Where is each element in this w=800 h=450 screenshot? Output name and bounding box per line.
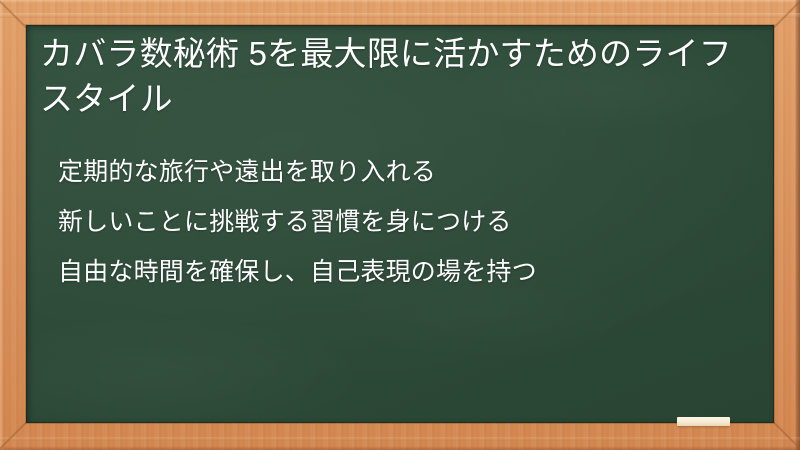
chalkboard-surface: カバラ数秘術 5を最大限に活かすためのライフスタイル 定期的な旅行や遠出を取り入… <box>26 25 774 423</box>
frame-bottom-shadow <box>0 446 800 450</box>
chalk-stick-icon <box>677 417 730 426</box>
board-content: カバラ数秘術 5を最大限に活かすためのライフスタイル 定期的な旅行や遠出を取り入… <box>26 25 774 423</box>
list-item: 新しいことに挑戦する習慣を身につける <box>58 197 748 247</box>
frame-top-highlight <box>0 0 800 3</box>
frame-ledge-grain-band <box>0 437 800 441</box>
bullet-list: 定期的な旅行や遠出を取り入れる 新しいことに挑戦する習慣を身につける 自由な時間… <box>58 147 748 297</box>
list-item: 定期的な旅行や遠出を取り入れる <box>58 147 748 197</box>
blackboard-frame: カバラ数秘術 5を最大限に活かすためのライフスタイル 定期的な旅行や遠出を取り入… <box>0 0 800 450</box>
frame-left-highlight <box>0 0 3 450</box>
slide-title: カバラ数秘術 5を最大限に活かすためのライフスタイル <box>40 31 750 121</box>
frame-top-grain-band <box>0 13 800 18</box>
frame-right-shadow <box>795 0 800 450</box>
list-item: 自由な時間を確保し、自己表現の場を持つ <box>58 247 748 297</box>
